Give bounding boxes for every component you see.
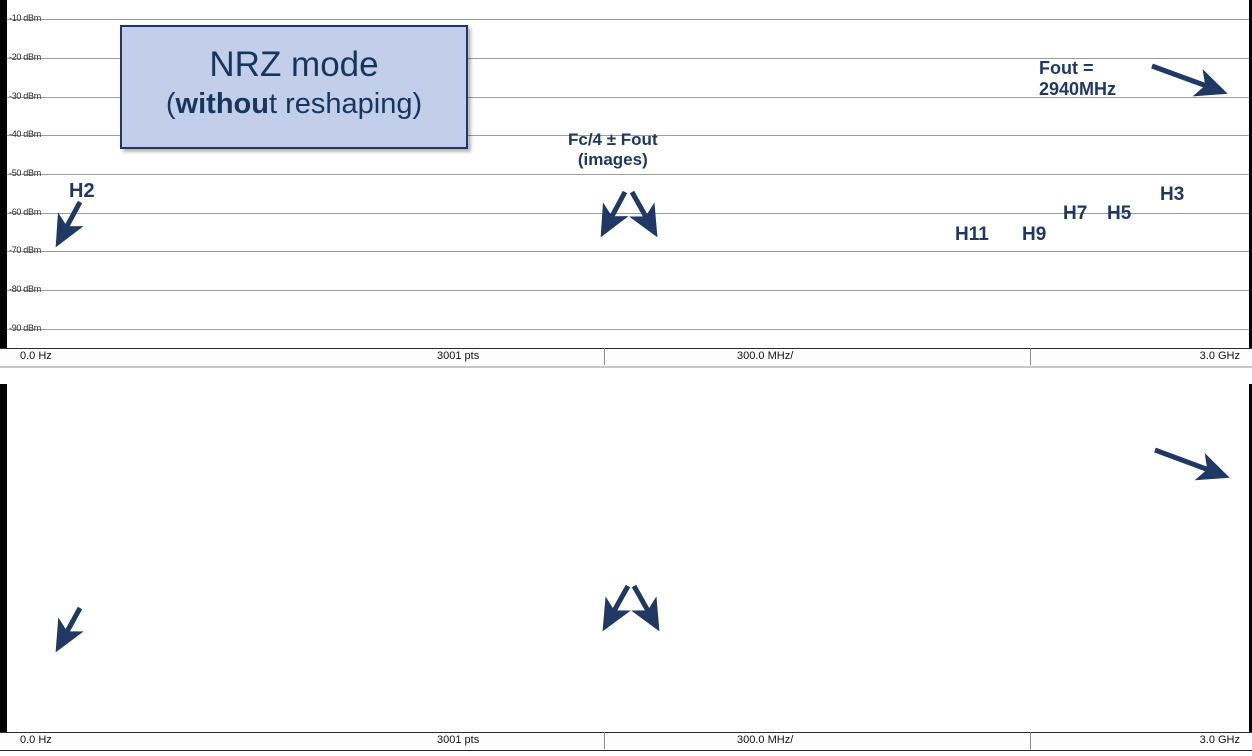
readout-divider-a-top xyxy=(604,348,605,365)
readout-divider-a-bottom xyxy=(604,732,605,749)
readout-bar-bottom: 0.0 Hz 3001 pts 300.0 MHz/ 3.0 GHz xyxy=(0,732,1252,751)
annotation-h2-top: H2 xyxy=(69,180,95,203)
harmonic-label-h7-top: H7 xyxy=(1063,203,1087,225)
spectrum-trace-nrtz xyxy=(0,384,1252,732)
annotation-images-line2: (images) xyxy=(578,150,648,169)
callout-nrz-mode: NRZ mode (without reshaping) xyxy=(120,25,468,149)
readout-divider-b-top xyxy=(1030,348,1031,365)
plot-area-nrtz xyxy=(0,384,1252,732)
panel-nrtz: 0.0 Hz 3001 pts 300.0 MHz/ 3.0 GHz NRTZ … xyxy=(0,384,1252,756)
y-axis-tick-label: -60 dBm xyxy=(9,207,41,217)
annotation-fout-top: Fout = 2940MHz xyxy=(1039,58,1116,100)
points-readout-top: 3001 pts xyxy=(437,350,479,362)
callout-nrz-line2: (without reshaping) xyxy=(122,88,466,120)
harmonic-label-h5-top: H5 xyxy=(1107,203,1131,225)
left-edge-band-top xyxy=(0,0,7,348)
y-axis-tick-label: -80 dBm xyxy=(9,284,41,294)
harmonic-label-h11-top: H11 xyxy=(955,224,989,246)
y-axis-tick-label: -90 dBm xyxy=(9,323,41,333)
left-edge-band-bottom xyxy=(0,384,7,732)
x-start-readout-top: 0.0 Hz xyxy=(20,350,52,362)
y-axis-tick-label: -30 dBm xyxy=(9,91,41,101)
x-perdiv-readout-top: 300.0 MHz/ xyxy=(737,350,793,362)
x-stop-readout-bottom: 3.0 GHz xyxy=(1200,734,1240,746)
callout-nrz-rest: t reshaping) xyxy=(269,88,422,120)
y-axis-tick-label: -50 dBm xyxy=(9,168,41,178)
annotation-images-top: Fc/4 ± Fout (images) xyxy=(568,130,658,170)
annotation-fout-line1-top: Fout = xyxy=(1039,58,1094,78)
annotation-images-line1: Fc/4 ± Fout xyxy=(568,130,658,149)
panel-separator-top xyxy=(0,366,1252,368)
x-start-readout-bottom: 0.0 Hz xyxy=(20,734,52,746)
harmonic-label-h9-top: H9 xyxy=(1022,224,1046,246)
x-stop-readout-top: 3.0 GHz xyxy=(1200,350,1240,362)
callout-nrz-line1: NRZ mode xyxy=(122,45,466,84)
y-axis-tick-label: -20 dBm xyxy=(9,52,41,62)
y-axis-tick-label: -10 dBm xyxy=(9,13,41,23)
callout-nrz-paren: ( xyxy=(166,88,176,120)
panel-nrz: -10 dBm-20 dBm-30 dBm-40 dBm-50 dBm-60 d… xyxy=(0,0,1252,372)
points-readout-bottom: 3001 pts xyxy=(437,734,479,746)
x-perdiv-readout-bottom: 300.0 MHz/ xyxy=(737,734,793,746)
y-axis-tick-label: -70 dBm xyxy=(9,245,41,255)
annotation-fout-line2-top: 2940MHz xyxy=(1039,79,1116,99)
readout-divider-b-bottom xyxy=(1030,732,1031,749)
harmonic-label-h3-top: H3 xyxy=(1160,184,1184,206)
y-axis-tick-label: -40 dBm xyxy=(9,129,41,139)
readout-bar-top: 0.0 Hz 3001 pts 300.0 MHz/ 3.0 GHz xyxy=(0,348,1252,367)
callout-nrz-bold: withou xyxy=(176,88,269,120)
